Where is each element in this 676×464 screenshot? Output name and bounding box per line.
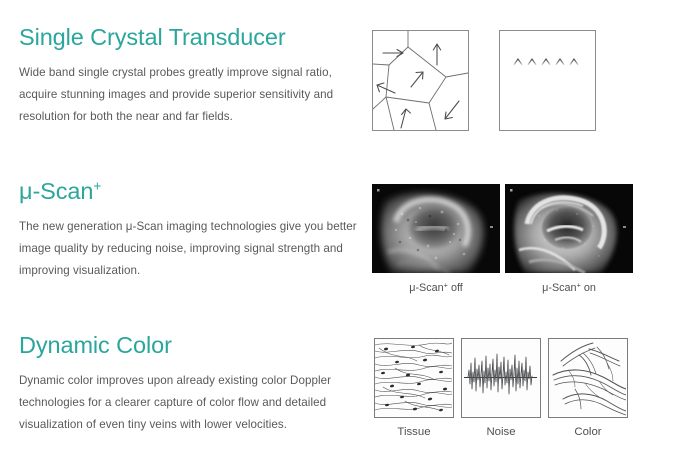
feature-text-column: Dynamic Color Dynamic color improves upo… xyxy=(19,330,359,436)
ultrasound-caption-off: μ-Scan+ off xyxy=(372,281,500,295)
single-crystal-aligned-arrows-diagram xyxy=(499,30,596,131)
caption-text: μ-Scan xyxy=(409,282,443,294)
color-frame xyxy=(548,338,628,418)
tissue-caption: Tissue xyxy=(374,425,454,439)
feature-title-single-crystal-transducer: Single Crystal Transducer xyxy=(19,22,359,52)
tissue-panel: Tissue xyxy=(374,338,454,439)
caption-suffix: on xyxy=(581,282,596,294)
noise-panel: Noise xyxy=(461,338,541,439)
feature-title-text: Single Crystal Transducer xyxy=(19,24,286,50)
feature-title-text: μ-Scan xyxy=(19,178,93,204)
caption-suffix: off xyxy=(448,282,463,294)
marketing-feature-sheet: Single Crystal Transducer Wide band sing… xyxy=(0,0,676,464)
ultrasound-image-on xyxy=(505,184,633,273)
vessel-flow-svg xyxy=(549,339,626,416)
ultrasound-u-scan-on: μ-Scan+ on xyxy=(505,184,633,295)
aligned-arrows-svg xyxy=(500,31,595,130)
caption-text: μ-Scan xyxy=(542,282,576,294)
tissue-fibers-svg xyxy=(375,339,452,416)
tissue-frame xyxy=(374,338,454,418)
noise-waveform-svg xyxy=(462,339,539,416)
feature-body-dynamic-color: Dynamic color improves upon already exis… xyxy=(19,370,357,436)
color-caption: Color xyxy=(548,425,628,439)
fetal-ultrasound-off-svg xyxy=(372,184,500,273)
ultrasound-u-scan-off: μ-Scan+ off xyxy=(372,184,500,295)
polycrystal-grain-svg xyxy=(373,31,468,130)
feature-text-column: Single Crystal Transducer Wide band sing… xyxy=(19,22,359,128)
feature-title-superscript: + xyxy=(93,179,101,194)
feature-title-text: Dynamic Color xyxy=(19,332,172,358)
feature-title-dynamic-color: Dynamic Color xyxy=(19,330,359,360)
fetal-ultrasound-on-svg xyxy=(505,184,633,273)
feature-body-u-scan-plus: The new generation μ-Scan imaging techno… xyxy=(19,216,357,282)
ultrasound-image-off xyxy=(372,184,500,273)
polycrystal-grain-diagram xyxy=(372,30,469,131)
feature-title-u-scan-plus: μ-Scan+ xyxy=(19,176,359,206)
noise-frame xyxy=(461,338,541,418)
feature-text-column: μ-Scan+ The new generation μ-Scan imagin… xyxy=(19,176,359,282)
color-panel: Color xyxy=(548,338,628,439)
feature-body-single-crystal-transducer: Wide band single crystal probes greatly … xyxy=(19,62,357,128)
noise-caption: Noise xyxy=(461,425,541,439)
ultrasound-caption-on: μ-Scan+ on xyxy=(505,281,633,295)
